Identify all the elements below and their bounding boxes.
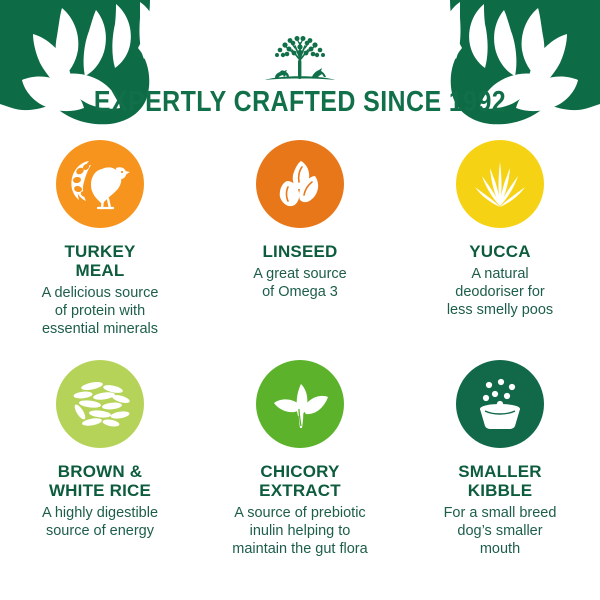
benefit-description: A source of prebiotic inulin helping to … [232, 504, 367, 558]
linseed-seeds-icon [256, 140, 344, 228]
turkey-icon [56, 140, 144, 228]
ingredient-benefits-infographic: EXPERTLY CRAFTED SINCE 1992 [0, 0, 600, 600]
benefit-description: A highly digestible source of energy [42, 504, 158, 540]
benefit-title: YUCCA [469, 242, 530, 261]
benefit-description: A natural deodoriser for less smelly poo… [447, 265, 553, 319]
page-title: EXPERTLY CRAFTED SINCE 1992 [42, 86, 558, 119]
benefit-card-smaller-kibble: SMALLER KIBBLE For a small breed dog’s s… [400, 360, 600, 580]
benefit-title: LINSEED [262, 242, 337, 261]
header-banner: EXPERTLY CRAFTED SINCE 1992 [0, 0, 600, 136]
benefits-grid: TURKEY MEAL A delicious source of protei… [0, 140, 600, 580]
benefit-card-brown-white-rice: BROWN & WHITE RICE A highly digestible s… [0, 360, 200, 580]
benefit-card-linseed: LINSEED A great source of Omega 3 [200, 140, 400, 360]
benefit-title: SMALLER KIBBLE [458, 462, 542, 500]
benefit-description: A great source of Omega 3 [253, 265, 347, 301]
benefit-title: TURKEY MEAL [64, 242, 135, 280]
benefit-description: For a small breed dog’s smaller mouth [444, 504, 557, 558]
dog-bowl-kibble-icon [456, 360, 544, 448]
chicory-sprout-icon [256, 360, 344, 448]
benefit-card-turkey-meal: TURKEY MEAL A delicious source of protei… [0, 140, 200, 360]
benefit-title: CHICORY EXTRACT [259, 462, 341, 500]
benefit-description: A delicious source of protein with essen… [42, 284, 159, 338]
benefit-card-yucca: YUCCA A natural deodoriser for less smel… [400, 140, 600, 360]
rice-grains-icon [56, 360, 144, 448]
benefit-title: BROWN & WHITE RICE [49, 462, 151, 500]
yucca-grass-icon [456, 140, 544, 228]
tree-with-dogs-logo-icon [259, 34, 341, 90]
benefit-card-chicory-extract: CHICORY EXTRACT A source of prebiotic in… [200, 360, 400, 580]
